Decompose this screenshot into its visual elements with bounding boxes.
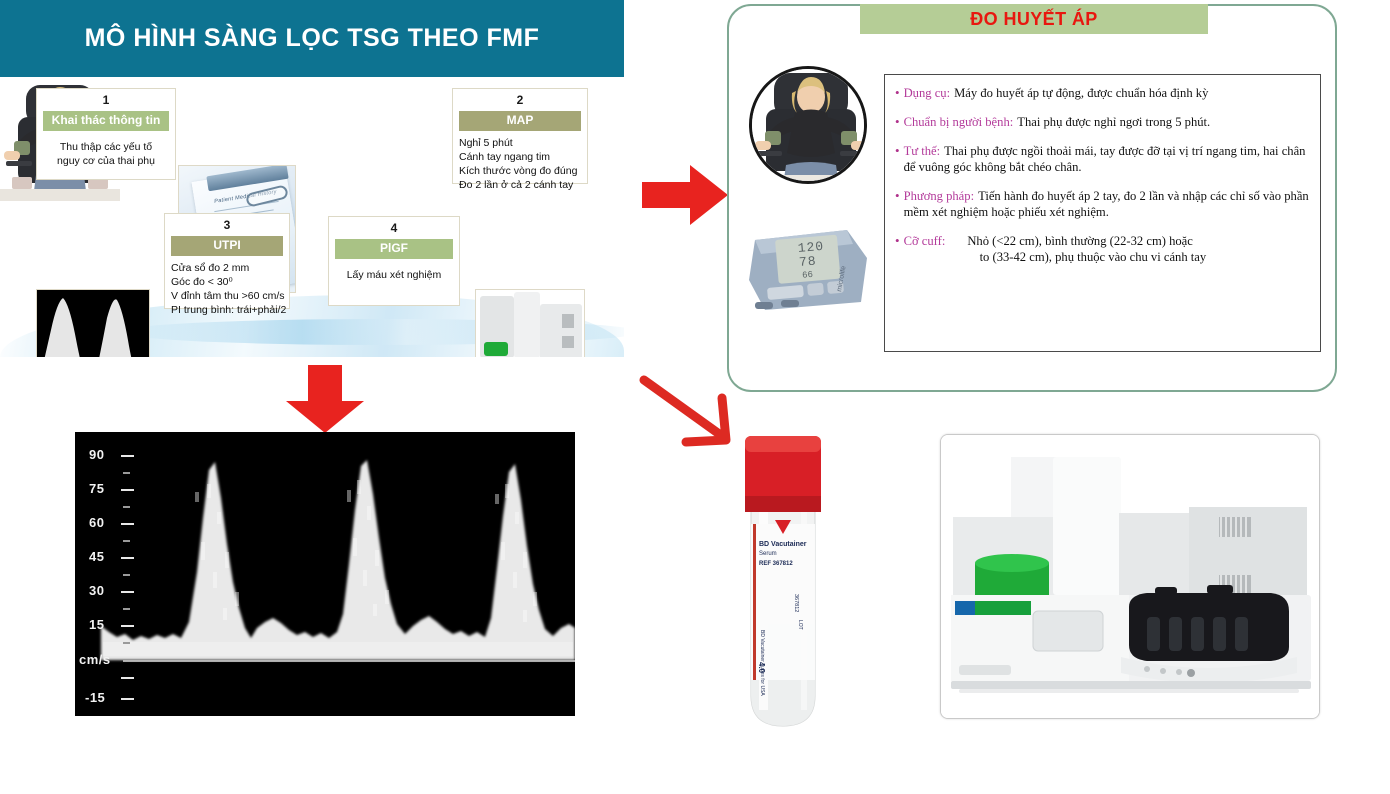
step-body: Cửa sổ đo 2 mm Góc đo < 30⁰ V đỉnh tâm t… xyxy=(171,261,283,317)
svg-text:66: 66 xyxy=(802,270,814,281)
doppler-tick-major xyxy=(121,625,134,627)
step-band-label: MAP xyxy=(459,111,581,131)
step-line: Góc đo < 30⁰ xyxy=(171,275,283,289)
bp-patient-portrait xyxy=(749,66,867,184)
doppler-spectral-image: 90 75 60 45 30 15 cm/s -15 xyxy=(75,432,575,716)
doppler-baseline xyxy=(123,660,575,662)
step-line: nguy cơ của thai phụ xyxy=(43,154,169,168)
bp-instructions-box: • Dụng cụ:Máy đo huyết áp tự động, được … xyxy=(884,74,1321,352)
doppler-ytick-label: 60 xyxy=(89,515,104,530)
bullet-dot-icon: • xyxy=(895,114,900,130)
step-band-label: PlGF xyxy=(335,239,453,259)
bullet-lead: Tư thế: xyxy=(904,144,941,158)
bullet-lead: Chuẩn bị người bệnh: xyxy=(904,115,1014,129)
tube-side-text: 367812 xyxy=(793,594,799,612)
tube-brand-text: BD Vacutainer xyxy=(759,541,807,548)
doppler-tick-major xyxy=(121,557,134,559)
bullet-text: Thai phụ được nghỉ ngơi trong 5 phút. xyxy=(1017,115,1210,129)
doppler-ytick-label: 75 xyxy=(89,481,104,496)
bullet-text-second-line: to (33-42 cm), phụ thuộc vào chu vi cánh… xyxy=(980,249,1207,265)
arrow-diagonal-down-right-icon xyxy=(636,372,740,450)
step-card-2: 2 MAP Nghỉ 5 phút Cánh tay ngang tim Kíc… xyxy=(452,88,588,184)
bp-bullet-patient-prep: • Chuẩn bị người bệnh:Thai phụ được nghỉ… xyxy=(895,114,1310,130)
step-card-1: 1 Khai thác thông tin Thu thập các yếu t… xyxy=(36,88,176,180)
bullet-dot-icon: • xyxy=(895,233,900,265)
step-line: Nghỉ 5 phút xyxy=(459,136,581,150)
arrow-down-icon xyxy=(282,363,368,435)
step-band-label: UTPI xyxy=(171,236,283,256)
analyzer-thumbnail-illustration xyxy=(476,290,585,357)
doppler-tick-major xyxy=(121,698,134,700)
bullet-lead: Dụng cụ: xyxy=(904,86,951,100)
step-line: Thu thập các yếu tố xyxy=(43,140,169,154)
doppler-tick-minor xyxy=(123,540,130,542)
blood-pressure-panel: ĐO HUYẾT ÁP xyxy=(727,4,1337,392)
doppler-tick-minor xyxy=(123,642,130,644)
step-number: 4 xyxy=(335,221,453,236)
bullet-dot-icon: • xyxy=(895,85,900,101)
lab-analyzer-illustration xyxy=(941,435,1320,719)
arrow-diagonal-to-lab-samples xyxy=(636,372,740,455)
doppler-ytick-label: 30 xyxy=(89,583,104,598)
bp-panel-title-band: ĐO HUYẾT ÁP xyxy=(860,4,1208,34)
doppler-tick-major xyxy=(121,677,134,679)
bp-monitor-device: 120 78 66 microlife xyxy=(741,210,873,322)
bullet-lead: Cỡ cuff: xyxy=(904,234,946,248)
seated-patient-circle-illustration xyxy=(752,69,867,184)
bp-bullet-cuff-size: • Cỡ cuff:Nhỏ (<22 cm), bình thường (22-… xyxy=(895,233,1310,265)
doppler-ytick-label: 45 xyxy=(89,549,104,564)
step-line: Cánh tay ngang tim xyxy=(459,150,581,164)
doppler-unit-label: cm/s xyxy=(79,652,111,667)
doppler-tick-minor xyxy=(123,506,130,508)
tube-volume-text: 4.0 xyxy=(757,662,766,674)
step-line: Đo 2 lần ở cả 2 cánh tay xyxy=(459,178,581,192)
step-band-label: Khai thác thông tin xyxy=(43,111,169,131)
arrow-down-to-doppler xyxy=(282,363,368,440)
slide-title: MÔ HÌNH SÀNG LỌC TSG THEO FMF xyxy=(85,24,540,53)
step-body: Nghỉ 5 phút Cánh tay ngang tim Kích thướ… xyxy=(459,136,581,192)
step-body: Lấy máu xét nghiệm xyxy=(335,264,453,282)
arrow-right-to-bp-panel xyxy=(640,162,730,233)
doppler-thumbnail-waveform xyxy=(37,290,150,357)
blood-pressure-monitor-illustration: 120 78 66 microlife xyxy=(741,210,873,322)
bullet-lead: Phương pháp: xyxy=(904,189,975,203)
step-line: Lấy máu xét nghiệm xyxy=(335,268,453,282)
step-number: 1 xyxy=(43,93,169,108)
bullet-dot-icon: • xyxy=(895,188,900,220)
tube-lot-text: LOT xyxy=(797,620,803,630)
doppler-tick-minor xyxy=(123,608,130,610)
blood-collection-tube-photo: BD Vacutainer Serum REF 367812 367812 BD… xyxy=(733,424,833,734)
bp-bullet-posture: • Tư thế:Thai phụ được ngồi thoải mái, t… xyxy=(895,143,1310,175)
lab-analyzer-photo xyxy=(940,434,1320,719)
doppler-tick-major xyxy=(121,523,134,525)
bullet-dot-icon: • xyxy=(895,143,900,175)
bullet-text: Máy đo huyết áp tự động, được chuẩn hóa … xyxy=(954,86,1208,100)
tube-ref-text: REF 367812 xyxy=(759,561,793,567)
arrow-right-icon xyxy=(640,162,730,228)
doppler-ytick-label: 15 xyxy=(89,617,104,632)
doppler-tick-minor xyxy=(123,472,130,474)
vacutainer-tube-illustration: BD Vacutainer Serum REF 367812 367812 BD… xyxy=(733,424,833,734)
doppler-tick-major xyxy=(121,455,134,457)
bullet-text: Nhỏ (<22 cm), bình thường (22-32 cm) hoặ… xyxy=(967,234,1193,248)
step-number: 3 xyxy=(171,218,283,233)
step-line: Kích thước vòng đo đúng xyxy=(459,164,581,178)
step-line: PI trung bình: trái+phải/2 xyxy=(171,303,283,317)
slide-body: 1 Khai thác thông tin Thu thập các yếu t… xyxy=(0,77,624,357)
tube-type-text: Serum xyxy=(759,551,777,557)
slide-title-bar: MÔ HÌNH SÀNG LỌC TSG THEO FMF xyxy=(0,0,624,77)
step-body: Thu thập các yếu tố nguy cơ của thai phụ xyxy=(43,136,169,168)
doppler-ytick-label: 90 xyxy=(89,447,104,462)
step-card-3: 3 UTPI Cửa sổ đo 2 mm Góc đo < 30⁰ V đỉn… xyxy=(164,213,290,309)
doppler-tick-minor xyxy=(123,574,130,576)
bp-panel-title: ĐO HUYẾT ÁP xyxy=(970,9,1097,30)
bp-bullet-instrument: • Dụng cụ:Máy đo huyết áp tự động, được … xyxy=(895,85,1310,101)
doppler-tick-major xyxy=(121,591,134,593)
svg-text:78: 78 xyxy=(798,253,817,269)
doppler-thumbnail-photo xyxy=(36,289,150,357)
step-line: Cửa sổ đo 2 mm xyxy=(171,261,283,275)
fmf-screening-model-slide: MÔ HÌNH SÀNG LỌC TSG THEO FMF 1 Khai thá… xyxy=(0,0,624,357)
step-number: 2 xyxy=(459,93,581,108)
bp-bullet-method: • Phương pháp:Tiến hành đo huyết áp 2 ta… xyxy=(895,188,1310,220)
step-card-4: 4 PlGF Lấy máu xét nghiệm xyxy=(328,216,460,306)
doppler-tick-major xyxy=(121,489,134,491)
bullet-text: Thai phụ được ngồi thoải mái, tay được đ… xyxy=(904,144,1306,174)
doppler-ytick-label: -15 xyxy=(85,690,105,705)
step-line: V đỉnh tâm thu >60 cm/s xyxy=(171,289,283,303)
analyzer-thumbnail-photo xyxy=(475,289,585,357)
doppler-waveform-plot xyxy=(75,432,575,716)
